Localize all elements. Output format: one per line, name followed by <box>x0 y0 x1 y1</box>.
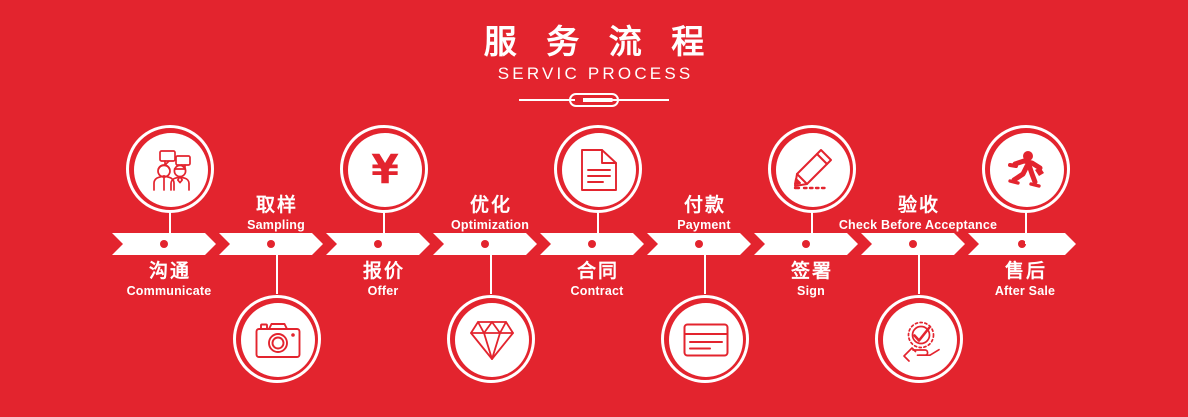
timeline-segment-6 <box>647 233 751 255</box>
step-label-contract: 合同 Contract <box>487 259 707 299</box>
step-label-en: Offer <box>273 283 493 299</box>
step-label-en: Check Before Acceptance <box>808 217 1028 233</box>
step-label-offer: 报价 Offer <box>273 259 493 299</box>
step-label-sign: 签署 Sign <box>701 259 921 299</box>
divider-line-right <box>613 99 669 101</box>
timeline-node-3 <box>374 240 382 248</box>
step-label-cn: 合同 <box>487 259 707 283</box>
step-label-communicate: 沟通 Communicate <box>59 259 279 299</box>
timeline-node-5 <box>588 240 596 248</box>
step-label-payment: 付款 Payment <box>594 193 814 233</box>
hand-checkmark-icon <box>883 303 957 377</box>
step-label-cn: 付款 <box>594 193 814 217</box>
paperclip-ornament-icon <box>569 93 619 107</box>
camera-icon <box>241 303 315 377</box>
step-label-en: Contract <box>487 283 707 299</box>
step-label-sampling: 取样 Sampling <box>166 193 386 233</box>
step-label-cn: 沟通 <box>59 259 279 283</box>
timeline-node-2 <box>267 240 275 248</box>
step-label-after-sale: 售后 After Sale <box>915 259 1135 299</box>
step-label-cn: 签署 <box>701 259 921 283</box>
timeline-node-4 <box>481 240 489 248</box>
timeline-segment-1 <box>112 233 216 255</box>
step-label-en: Payment <box>594 217 814 233</box>
page-title-english: SERVIC PROCESS <box>0 63 1188 85</box>
timeline-node-8 <box>909 240 917 248</box>
step-label-en: Optimization <box>380 217 600 233</box>
step-label-cn: 取样 <box>166 193 386 217</box>
step-icon-check-before-acceptance[interactable] <box>875 295 963 383</box>
step-label-en: Sign <box>701 283 921 299</box>
step-label-cn: 优化 <box>380 193 600 217</box>
timeline-segment-4 <box>433 233 537 255</box>
divider-line-left <box>519 99 575 101</box>
timeline-node-6 <box>695 240 703 248</box>
step-label-optimization: 优化 Optimization <box>380 193 600 233</box>
diamond-icon <box>455 303 529 377</box>
step-label-en: After Sale <box>915 283 1135 299</box>
step-label-check-before-acceptance: 验收 Check Before Acceptance <box>808 193 1028 233</box>
timeline-band <box>112 233 1076 255</box>
timeline-segment-7 <box>754 233 858 255</box>
timeline-segment-2 <box>219 233 323 255</box>
page-title-chinese: 服 务 流 程 <box>0 22 1188 62</box>
header: 服 务 流 程 SERVIC PROCESS <box>0 22 1188 108</box>
step-label-cn: 售后 <box>915 259 1135 283</box>
credit-card-icon <box>669 303 743 377</box>
timeline-node-1 <box>160 240 168 248</box>
timeline-segment-5 <box>540 233 644 255</box>
step-label-en: Communicate <box>59 283 279 299</box>
step-icon-payment[interactable] <box>661 295 749 383</box>
service-process-infographic: 服 务 流 程 SERVIC PROCESS <box>0 0 1188 417</box>
timeline-segment-3 <box>326 233 430 255</box>
timeline-segment-9 <box>968 233 1076 255</box>
timeline-segment-8 <box>861 233 965 255</box>
step-icon-sampling[interactable] <box>233 295 321 383</box>
step-label-en: Sampling <box>166 217 386 233</box>
divider <box>519 92 669 108</box>
step-label-cn: 验收 <box>808 193 1028 217</box>
step-icon-optimization[interactable] <box>447 295 535 383</box>
step-label-cn: 报价 <box>273 259 493 283</box>
timeline-node-7 <box>802 240 810 248</box>
